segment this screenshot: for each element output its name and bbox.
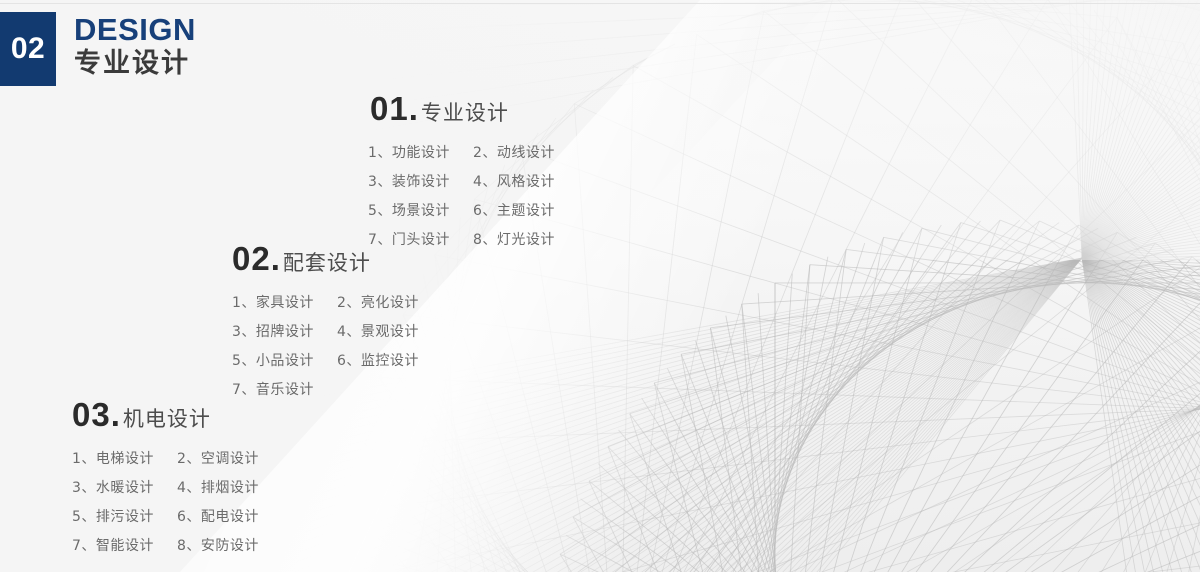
list-cell: 2、动线设计: [473, 142, 555, 162]
list-item: 5、排污设计 6、配电设计: [72, 506, 259, 526]
list-cell: 5、排污设计: [72, 506, 177, 526]
list-item: 7、智能设计 8、安防设计: [72, 535, 259, 555]
section-01-name: 专业设计: [421, 97, 509, 127]
section-01-list: 1、功能设计 2、动线设计 3、装饰设计 4、风格设计 5、场景设计 6、主题设…: [368, 142, 555, 249]
list-cell: 3、招牌设计: [232, 321, 337, 341]
list-cell: 3、水暖设计: [72, 477, 177, 497]
section-03-index: 03.: [72, 396, 121, 434]
section-number-label: 02: [11, 32, 45, 66]
list-cell: 7、智能设计: [72, 535, 177, 555]
list-item: 5、小品设计 6、监控设计: [232, 350, 419, 370]
section-01: 01. 专业设计 1、功能设计 2、动线设计 3、装饰设计 4、风格设计 5、场…: [370, 90, 555, 258]
section-02-name: 配套设计: [283, 247, 371, 277]
list-cell: 1、家具设计: [232, 292, 337, 312]
section-01-index: 01.: [370, 90, 419, 128]
section-02-list: 1、家具设计 2、亮化设计 3、招牌设计 4、景观设计 5、小品设计 6、监控设…: [232, 292, 419, 399]
list-cell: 6、监控设计: [337, 350, 419, 370]
section-03-list: 1、电梯设计 2、空调设计 3、水暖设计 4、排烟设计 5、排污设计 6、配电设…: [72, 448, 259, 555]
slide-canvas: 02 DESIGN 专业设计 01. 专业设计 1、功能设计 2、动线设计 3、…: [0, 0, 1200, 572]
list-item: 3、招牌设计 4、景观设计: [232, 321, 419, 341]
section-03: 03. 机电设计 1、电梯设计 2、空调设计 3、水暖设计 4、排烟设计 5、排…: [72, 396, 259, 564]
list-cell: 5、场景设计: [368, 200, 473, 220]
list-item: 3、装饰设计 4、风格设计: [368, 171, 555, 191]
list-item: 1、功能设计 2、动线设计: [368, 142, 555, 162]
list-cell: 2、空调设计: [177, 448, 259, 468]
list-cell: 3、装饰设计: [368, 171, 473, 191]
section-02: 02. 配套设计 1、家具设计 2、亮化设计 3、招牌设计 4、景观设计 5、小…: [232, 240, 419, 408]
section-03-title: 03. 机电设计: [72, 396, 259, 434]
list-item: 7、音乐设计: [232, 379, 419, 399]
list-cell: 4、风格设计: [473, 171, 555, 191]
top-divider: [0, 3, 1200, 4]
page-title-cn: 专业设计: [74, 50, 196, 77]
list-cell: 5、小品设计: [232, 350, 337, 370]
list-cell: 6、主题设计: [473, 200, 555, 220]
list-cell: 4、景观设计: [337, 321, 419, 341]
section-number-badge: 02: [0, 12, 56, 86]
list-item: 5、场景设计 6、主题设计: [368, 200, 555, 220]
section-03-name: 机电设计: [123, 403, 211, 433]
list-item: 1、电梯设计 2、空调设计: [72, 448, 259, 468]
section-02-title: 02. 配套设计: [232, 240, 419, 278]
section-01-title: 01. 专业设计: [370, 90, 555, 128]
list-item: 1、家具设计 2、亮化设计: [232, 292, 419, 312]
list-cell: 8、灯光设计: [473, 229, 555, 249]
list-cell: 8、安防设计: [177, 535, 259, 555]
list-cell: 1、功能设计: [368, 142, 473, 162]
page-title-en: DESIGN: [74, 14, 196, 45]
header: 02 DESIGN 专业设计: [0, 12, 196, 86]
list-cell: 4、排烟设计: [177, 477, 259, 497]
header-text: DESIGN 专业设计: [74, 14, 196, 77]
list-cell: 1、电梯设计: [72, 448, 177, 468]
section-02-index: 02.: [232, 240, 281, 278]
list-cell: 6、配电设计: [177, 506, 259, 526]
list-cell: 2、亮化设计: [337, 292, 419, 312]
list-item: 3、水暖设计 4、排烟设计: [72, 477, 259, 497]
